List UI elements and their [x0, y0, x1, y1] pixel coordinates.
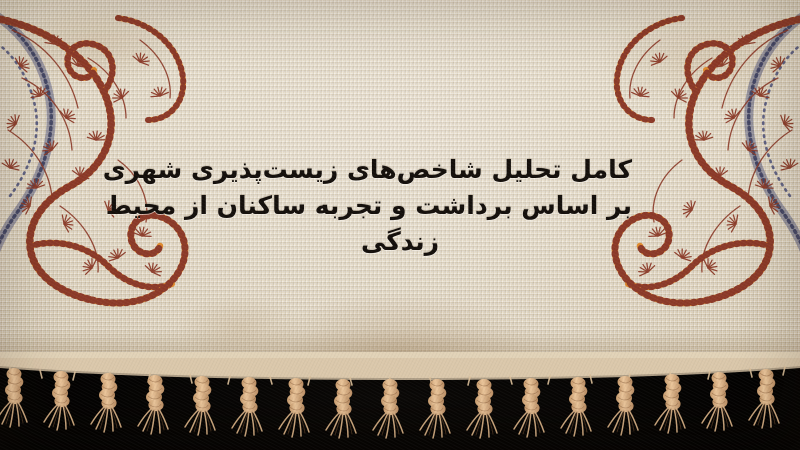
title-line-1: کامل تحلیل شاخص‌های زیست‌پذیری شهری [168, 152, 632, 188]
title-line-2: بر اساس برداشت و تجربه ساکنان از محیط [168, 188, 632, 224]
title-card-image: کامل تحلیل شاخص‌های زیست‌پذیری شهری بر ا… [0, 0, 800, 450]
page-title: کامل تحلیل شاخص‌های زیست‌پذیری شهری بر ا… [168, 152, 632, 260]
knotted-fringe [0, 352, 800, 450]
title-line-3: زندگی [168, 224, 632, 260]
